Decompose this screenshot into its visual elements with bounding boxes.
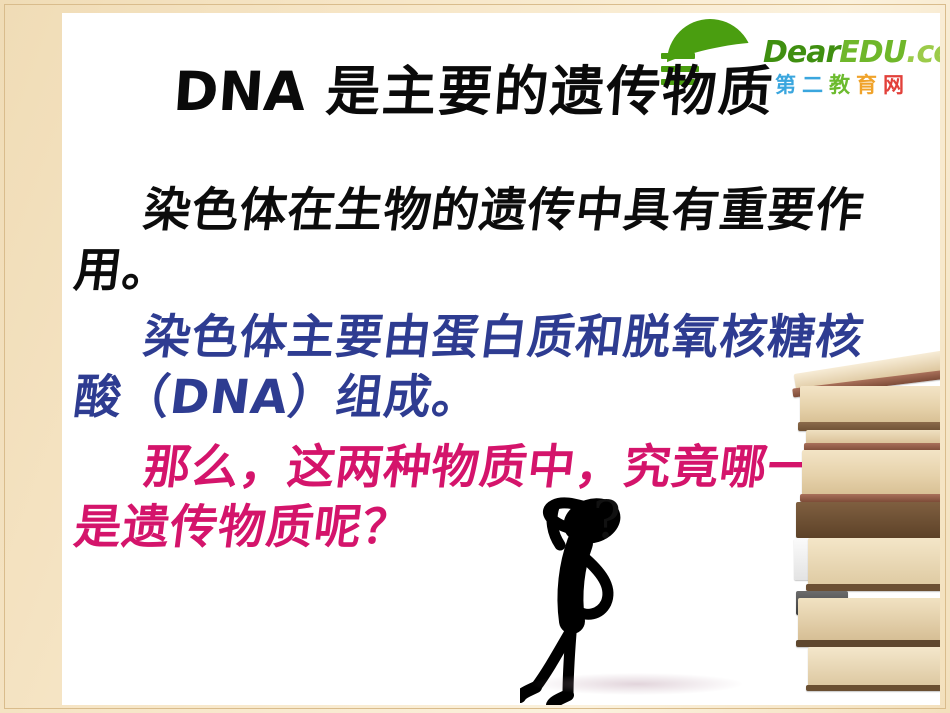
subtitle-char-2: 二 (802, 73, 829, 97)
subtitle-char-4: 育 (856, 73, 883, 97)
slide-title: DNA 是主要的遗传物质 (122, 61, 826, 123)
title-latin: DNA (172, 60, 308, 123)
figure-shadow (532, 673, 742, 695)
dearedu-logo-mark-icon (663, 19, 771, 93)
question-mark-icon: ? (593, 491, 621, 551)
dearedu-logo[interactable]: DearEDU.com 第二教育网 (663, 15, 940, 107)
dearedu-subtitle: 第二教育网 (775, 69, 910, 99)
wordmark-part-com: .com (906, 35, 940, 70)
subtitle-char-5: 网 (883, 73, 910, 97)
wordmark-part-edu: EDU (839, 35, 906, 70)
body-paragraph-1: 染色体在生物的遗传中具有重要作用。 (71, 181, 904, 301)
stack-of-books-image (784, 358, 940, 705)
title-cjk: 是主要的遗传物质 (324, 60, 776, 123)
thinking-stick-figure-icon (520, 493, 660, 705)
subtitle-char-3: 教 (829, 73, 856, 97)
body-paragraph-3: 那么，这两种物质中，究竟哪一种是遗传物质呢？ (71, 438, 904, 558)
body-paragraph-2: 染色体主要由蛋白质和脱氧核糖核酸（DNA）组成。 (71, 308, 904, 428)
wordmark-part-dear: Dear (763, 35, 839, 70)
slide-frame: DearEDU.com 第二教育网 DNA 是主要的遗传物质 染色体在生物的遗传… (0, 0, 950, 713)
slide-canvas: DearEDU.com 第二教育网 DNA 是主要的遗传物质 染色体在生物的遗传… (62, 13, 940, 705)
dearedu-wordmark: DearEDU.com (763, 35, 940, 70)
subtitle-char-1: 第 (775, 73, 802, 97)
